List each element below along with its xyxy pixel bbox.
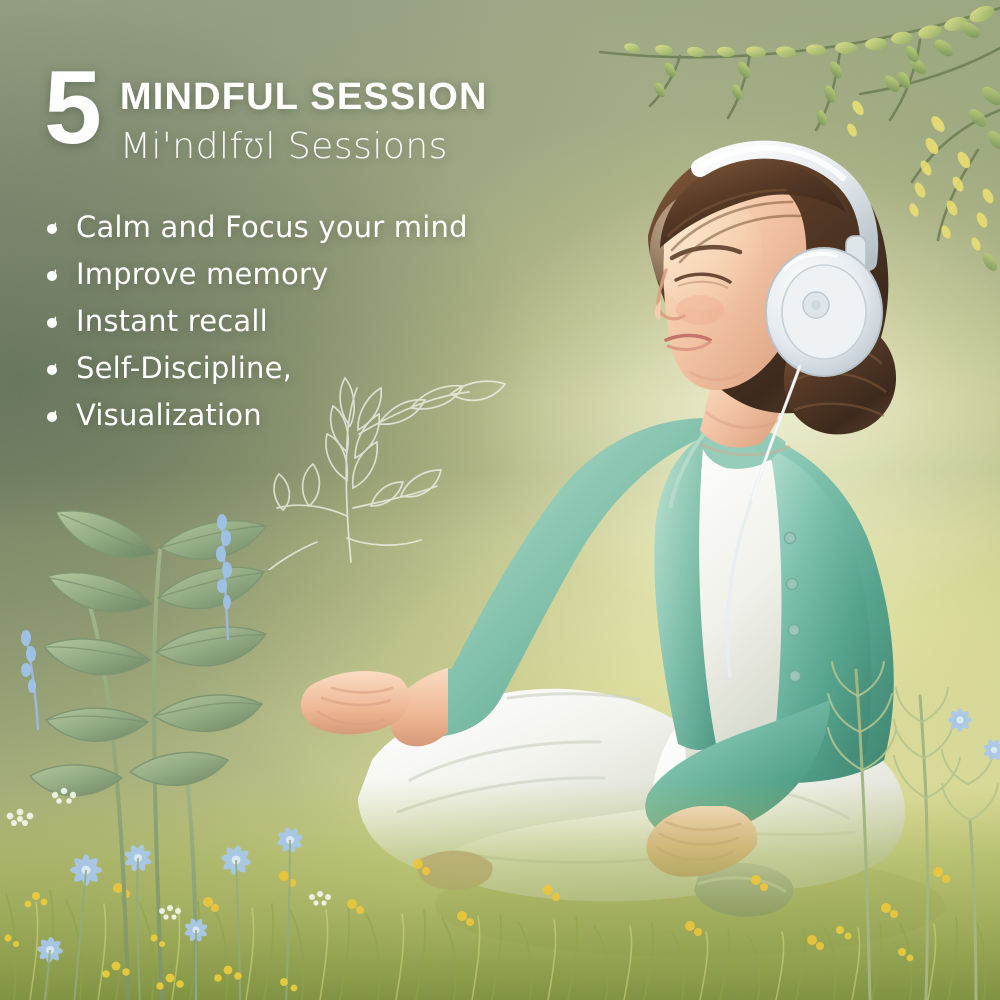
benefits-list: Calm and Focus your mind Improve memory xyxy=(44,203,604,438)
lotus-bullet-icon xyxy=(44,313,60,329)
list-item: Improve memory xyxy=(44,250,604,297)
lotus-bullet-icon xyxy=(44,219,60,235)
lotus-bullet-icon xyxy=(44,266,60,282)
list-item: Visualization xyxy=(44,391,604,438)
headline-row: 5 MINDFUL SESSION Mi'ndlfʊl Sessions xyxy=(44,62,604,167)
page-title: MINDFUL SESSION xyxy=(120,76,488,119)
session-count-number: 5 xyxy=(44,66,100,151)
list-item-label: Calm and Focus your mind xyxy=(76,210,468,244)
lotus-bullet-icon xyxy=(44,360,60,376)
list-item-label: Self-Discipline, xyxy=(76,351,292,385)
lotus-bullet-icon xyxy=(44,407,60,423)
list-item-label: Visualization xyxy=(76,398,262,432)
list-item-label: Improve memory xyxy=(76,257,328,291)
list-item: Calm and Focus your mind xyxy=(44,203,604,250)
poster-copy-block: 5 MINDFUL SESSION Mi'ndlfʊl Sessions Cal… xyxy=(44,62,604,454)
list-item-label: Instant recall xyxy=(76,304,268,338)
page-subtitle: Mi'ndlfʊl Sessions xyxy=(120,126,488,167)
meditation-poster: 5 MINDFUL SESSION Mi'ndlfʊl Sessions Cal… xyxy=(0,0,1000,1000)
list-item: Self-Discipline, xyxy=(44,344,604,391)
list-item: Instant recall xyxy=(44,297,604,344)
title-stack: MINDFUL SESSION Mi'ndlfʊl Sessions xyxy=(120,62,488,167)
